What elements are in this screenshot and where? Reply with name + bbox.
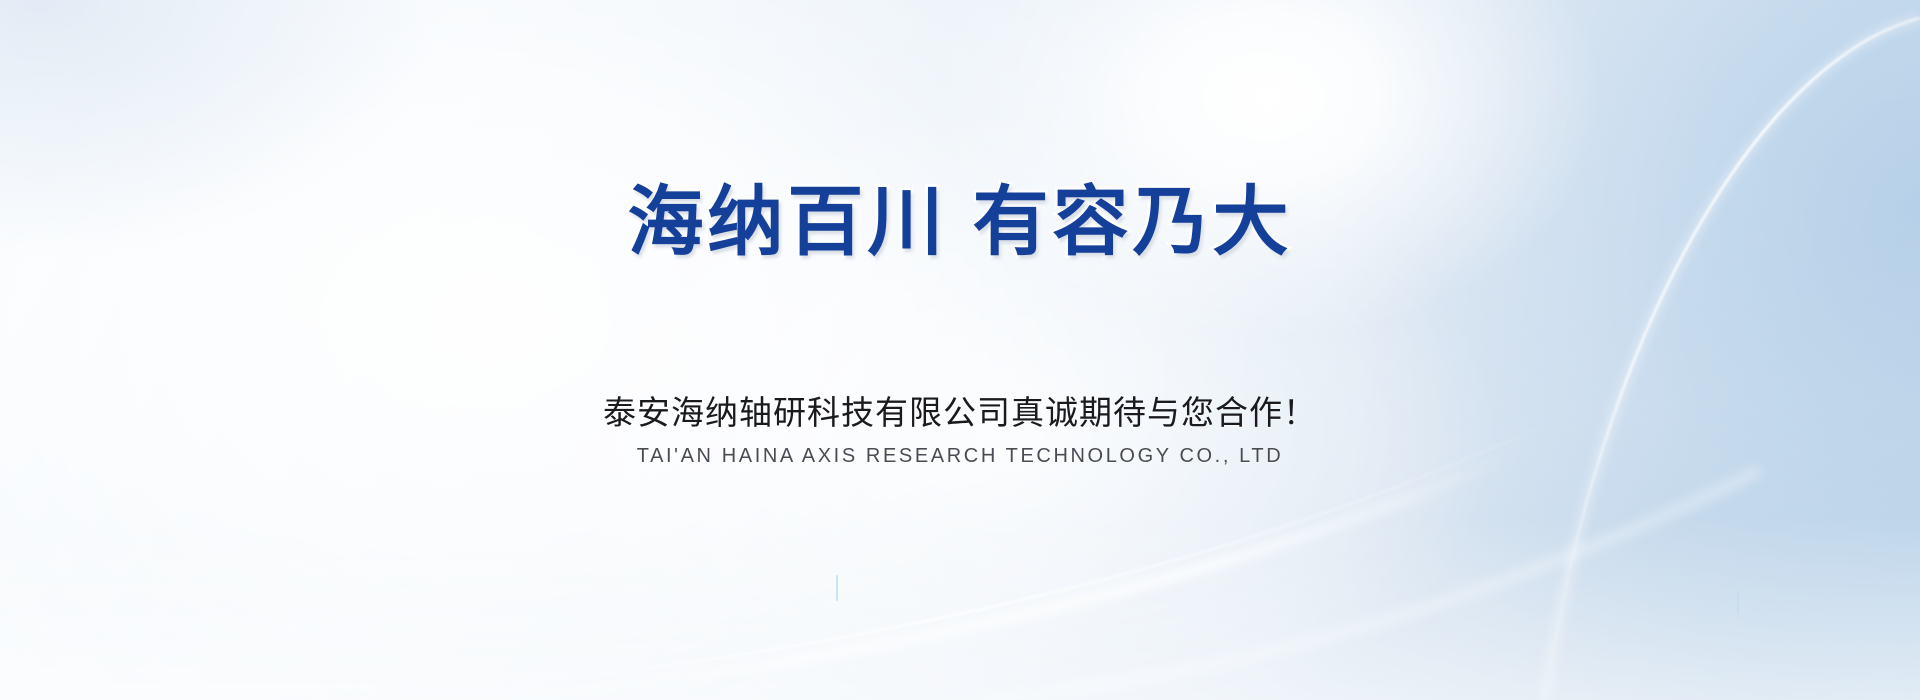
banner-subtitle-chinese: 泰安海纳轴研科技有限公司真诚期待与您合作！ bbox=[603, 392, 1317, 433]
banner-headline: 海纳百川 有容乃大 bbox=[627, 185, 1292, 261]
banner-content: 海纳百川 有容乃大 泰安海纳轴研科技有限公司真诚期待与您合作！ TAI'AN H… bbox=[0, 0, 1920, 700]
banner-subtitle-english: TAI'AN HAINA AXIS RESEARCH TECHNOLOGY CO… bbox=[637, 443, 1284, 469]
hero-banner: 海纳百川 有容乃大 泰安海纳轴研科技有限公司真诚期待与您合作！ TAI'AN H… bbox=[0, 0, 1920, 700]
